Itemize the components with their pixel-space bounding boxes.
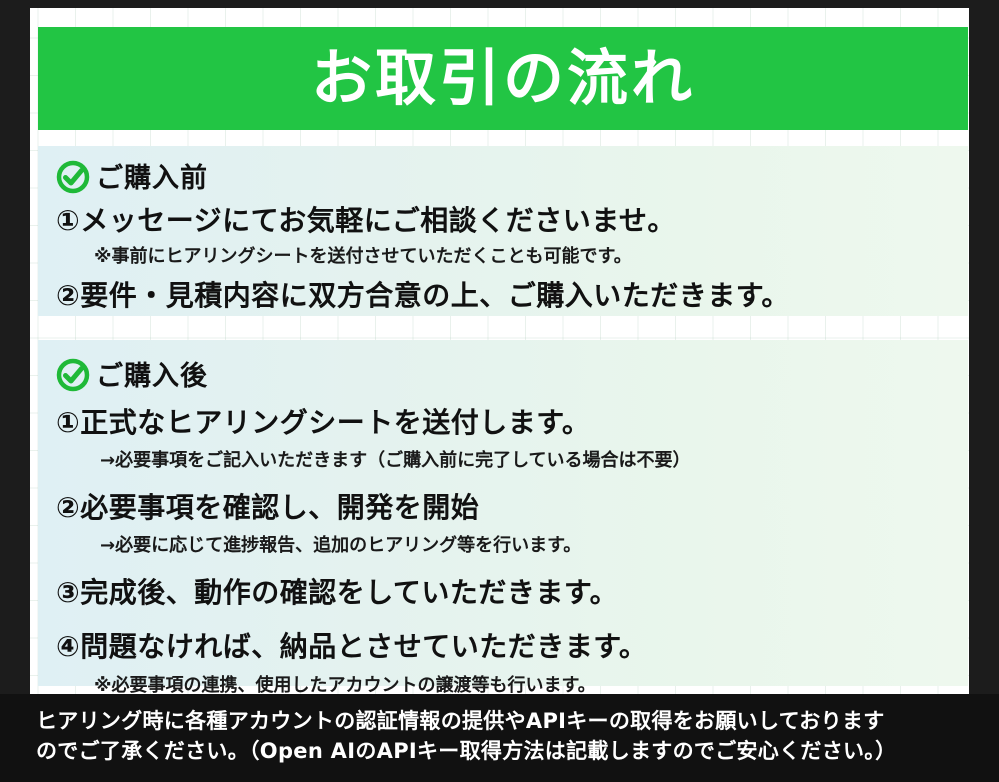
after-purchase-block: ご購入後 ①正式なヒアリングシートを送付します。 →必要事項をご記入いただきます… (38, 340, 968, 686)
after-step-4: ④問題なければ、納品とさせていただきます。 (38, 611, 968, 665)
before-purchase-block: ご購入前 ①メッセージにてお気軽にご相談くださいませ。 ※事前にヒアリングシート… (38, 146, 968, 316)
before-step-1-note: ※事前にヒアリングシートを送付させていただくことも可能です。 (38, 239, 968, 268)
check-circle-icon (56, 160, 90, 194)
left-strip (0, 0, 30, 694)
check-circle-icon (56, 358, 90, 392)
footer-line-1: ヒアリング時に各種アカウントの認証情報の提供やAPIキーの取得をお願いしておりま… (36, 706, 963, 736)
before-step-1: ①メッセージにてお気軽にご相談くださいませ。 (38, 195, 968, 239)
right-strip (969, 0, 999, 694)
after-step-2: ②必要事項を確認し、開発を開始 (38, 472, 968, 526)
after-purchase-heading: ご購入後 (96, 354, 208, 393)
after-step-1-note: →必要事項をご記入いただきます（ご購入前に完了している場合は不要） (38, 441, 968, 472)
after-step-3: ③完成後、動作の確認をしていただきます。 (38, 557, 968, 611)
page-title: お取引の流れ (311, 48, 695, 109)
footer-note: ヒアリング時に各種アカウントの認証情報の提供やAPIキーの取得をお願いしておりま… (0, 694, 999, 782)
footer-line-2: のでご了承ください。（Open AIのAPIキー取得方法は記載しますのでご安心く… (36, 736, 963, 766)
after-purchase-heading-row: ご購入後 (38, 340, 968, 393)
before-purchase-heading: ご購入前 (96, 156, 208, 195)
before-step-2: ②要件・見積内容に双方合意の上、ご購入いただきます。 (38, 268, 968, 314)
before-purchase-heading-row: ご購入前 (38, 146, 968, 195)
top-strip (0, 0, 999, 8)
after-step-1: ①正式なヒアリングシートを送付します。 (38, 393, 968, 441)
after-step-2-note: →必要に応じて進捗報告、追加のヒアリング等を行います。 (38, 526, 968, 557)
slide-page: お取引の流れ ご購入前 ①メッセージにてお気軽にご相談くださいませ。 ※事前にヒ… (0, 0, 999, 782)
title-banner: お取引の流れ (38, 27, 968, 130)
after-step-4-note: ※必要事項の連携、使用したアカウントの譲渡等も行います。 (38, 665, 968, 697)
